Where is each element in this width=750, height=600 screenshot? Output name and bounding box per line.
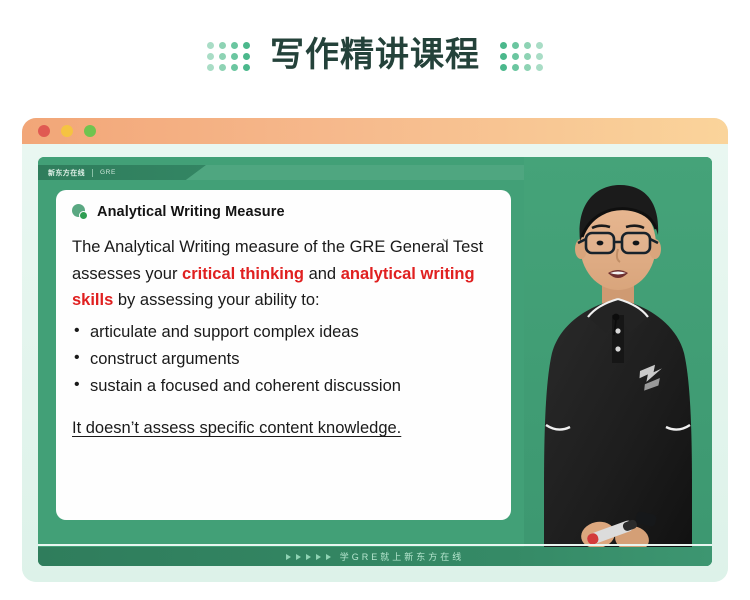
arrow-icon (316, 554, 321, 560)
dot (500, 53, 507, 60)
dot-grid-icon-left (207, 42, 250, 71)
banner-divider (38, 544, 712, 546)
brand-divider (92, 169, 93, 177)
browser-window: 新东方在线 GRE (22, 118, 728, 582)
close-button[interactable] (38, 125, 50, 137)
brand-tab: 新东方在线 GRE (38, 165, 206, 180)
dot (243, 42, 250, 49)
arrow-icon (286, 554, 291, 560)
maximize-button[interactable] (84, 125, 96, 137)
dot (231, 42, 238, 49)
dot (219, 53, 226, 60)
emphasis-critical-thinking: critical thinking (182, 265, 304, 283)
list-item: sustain a focused and coherent discussio… (72, 373, 495, 400)
dot (500, 42, 507, 49)
player-bottom-banner: 学GRE就上新东方在线 (38, 547, 712, 566)
page-header: 写作精讲课程 (0, 0, 750, 110)
slide-bullet-list: articulate and support complex ideas con… (72, 319, 495, 399)
dot (536, 53, 543, 60)
dot-grid-icon-right (500, 42, 543, 71)
presenter-illustration (524, 157, 712, 566)
presentation-slide: Analytical Writing Measure The Analytica… (56, 190, 511, 520)
list-item: construct arguments (72, 346, 495, 373)
paragraph-part-2: and (304, 265, 341, 283)
arrow-icon (306, 554, 311, 560)
brand-name: 新东方在线 (48, 168, 85, 178)
presenter-video (524, 157, 712, 566)
dot (243, 53, 250, 60)
dot (536, 64, 543, 71)
dot (524, 53, 531, 60)
paragraph-part-3: by assessing your ability to: (113, 291, 319, 309)
dot (207, 53, 214, 60)
dot (512, 42, 519, 49)
dot (536, 42, 543, 49)
course-tag: GRE (100, 169, 116, 176)
slide-closing-note: It doesn’t assess specific content knowl… (72, 419, 401, 438)
slide-header: Analytical Writing Measure (72, 204, 495, 220)
banner-text: 学GRE就上新东方在线 (340, 550, 465, 563)
arrow-icon (326, 554, 331, 560)
dot (207, 64, 214, 71)
slide-paragraph: The Analytical Writing measure of the GR… (72, 234, 495, 314)
browser-content: 新东方在线 GRE (22, 144, 728, 582)
dot (243, 64, 250, 71)
page-title: 写作精讲课程 (270, 38, 480, 72)
dot (524, 42, 531, 49)
dot (219, 64, 226, 71)
dot (500, 64, 507, 71)
dot (524, 64, 531, 71)
browser-title-bar (22, 118, 728, 144)
dot (231, 64, 238, 71)
green-circle-icon (72, 204, 88, 220)
dot (512, 53, 519, 60)
minimize-button[interactable] (61, 125, 73, 137)
video-player[interactable]: 新东方在线 GRE (38, 157, 712, 566)
dot (512, 64, 519, 71)
arrow-icon (296, 554, 301, 560)
slide-title: Analytical Writing Measure (97, 204, 285, 220)
dot (219, 42, 226, 49)
list-item: articulate and support complex ideas (72, 319, 495, 346)
arrow-icons (286, 554, 331, 560)
dot (207, 42, 214, 49)
dot (231, 53, 238, 60)
cursor-pointer-icon: ⌄ (440, 230, 451, 246)
